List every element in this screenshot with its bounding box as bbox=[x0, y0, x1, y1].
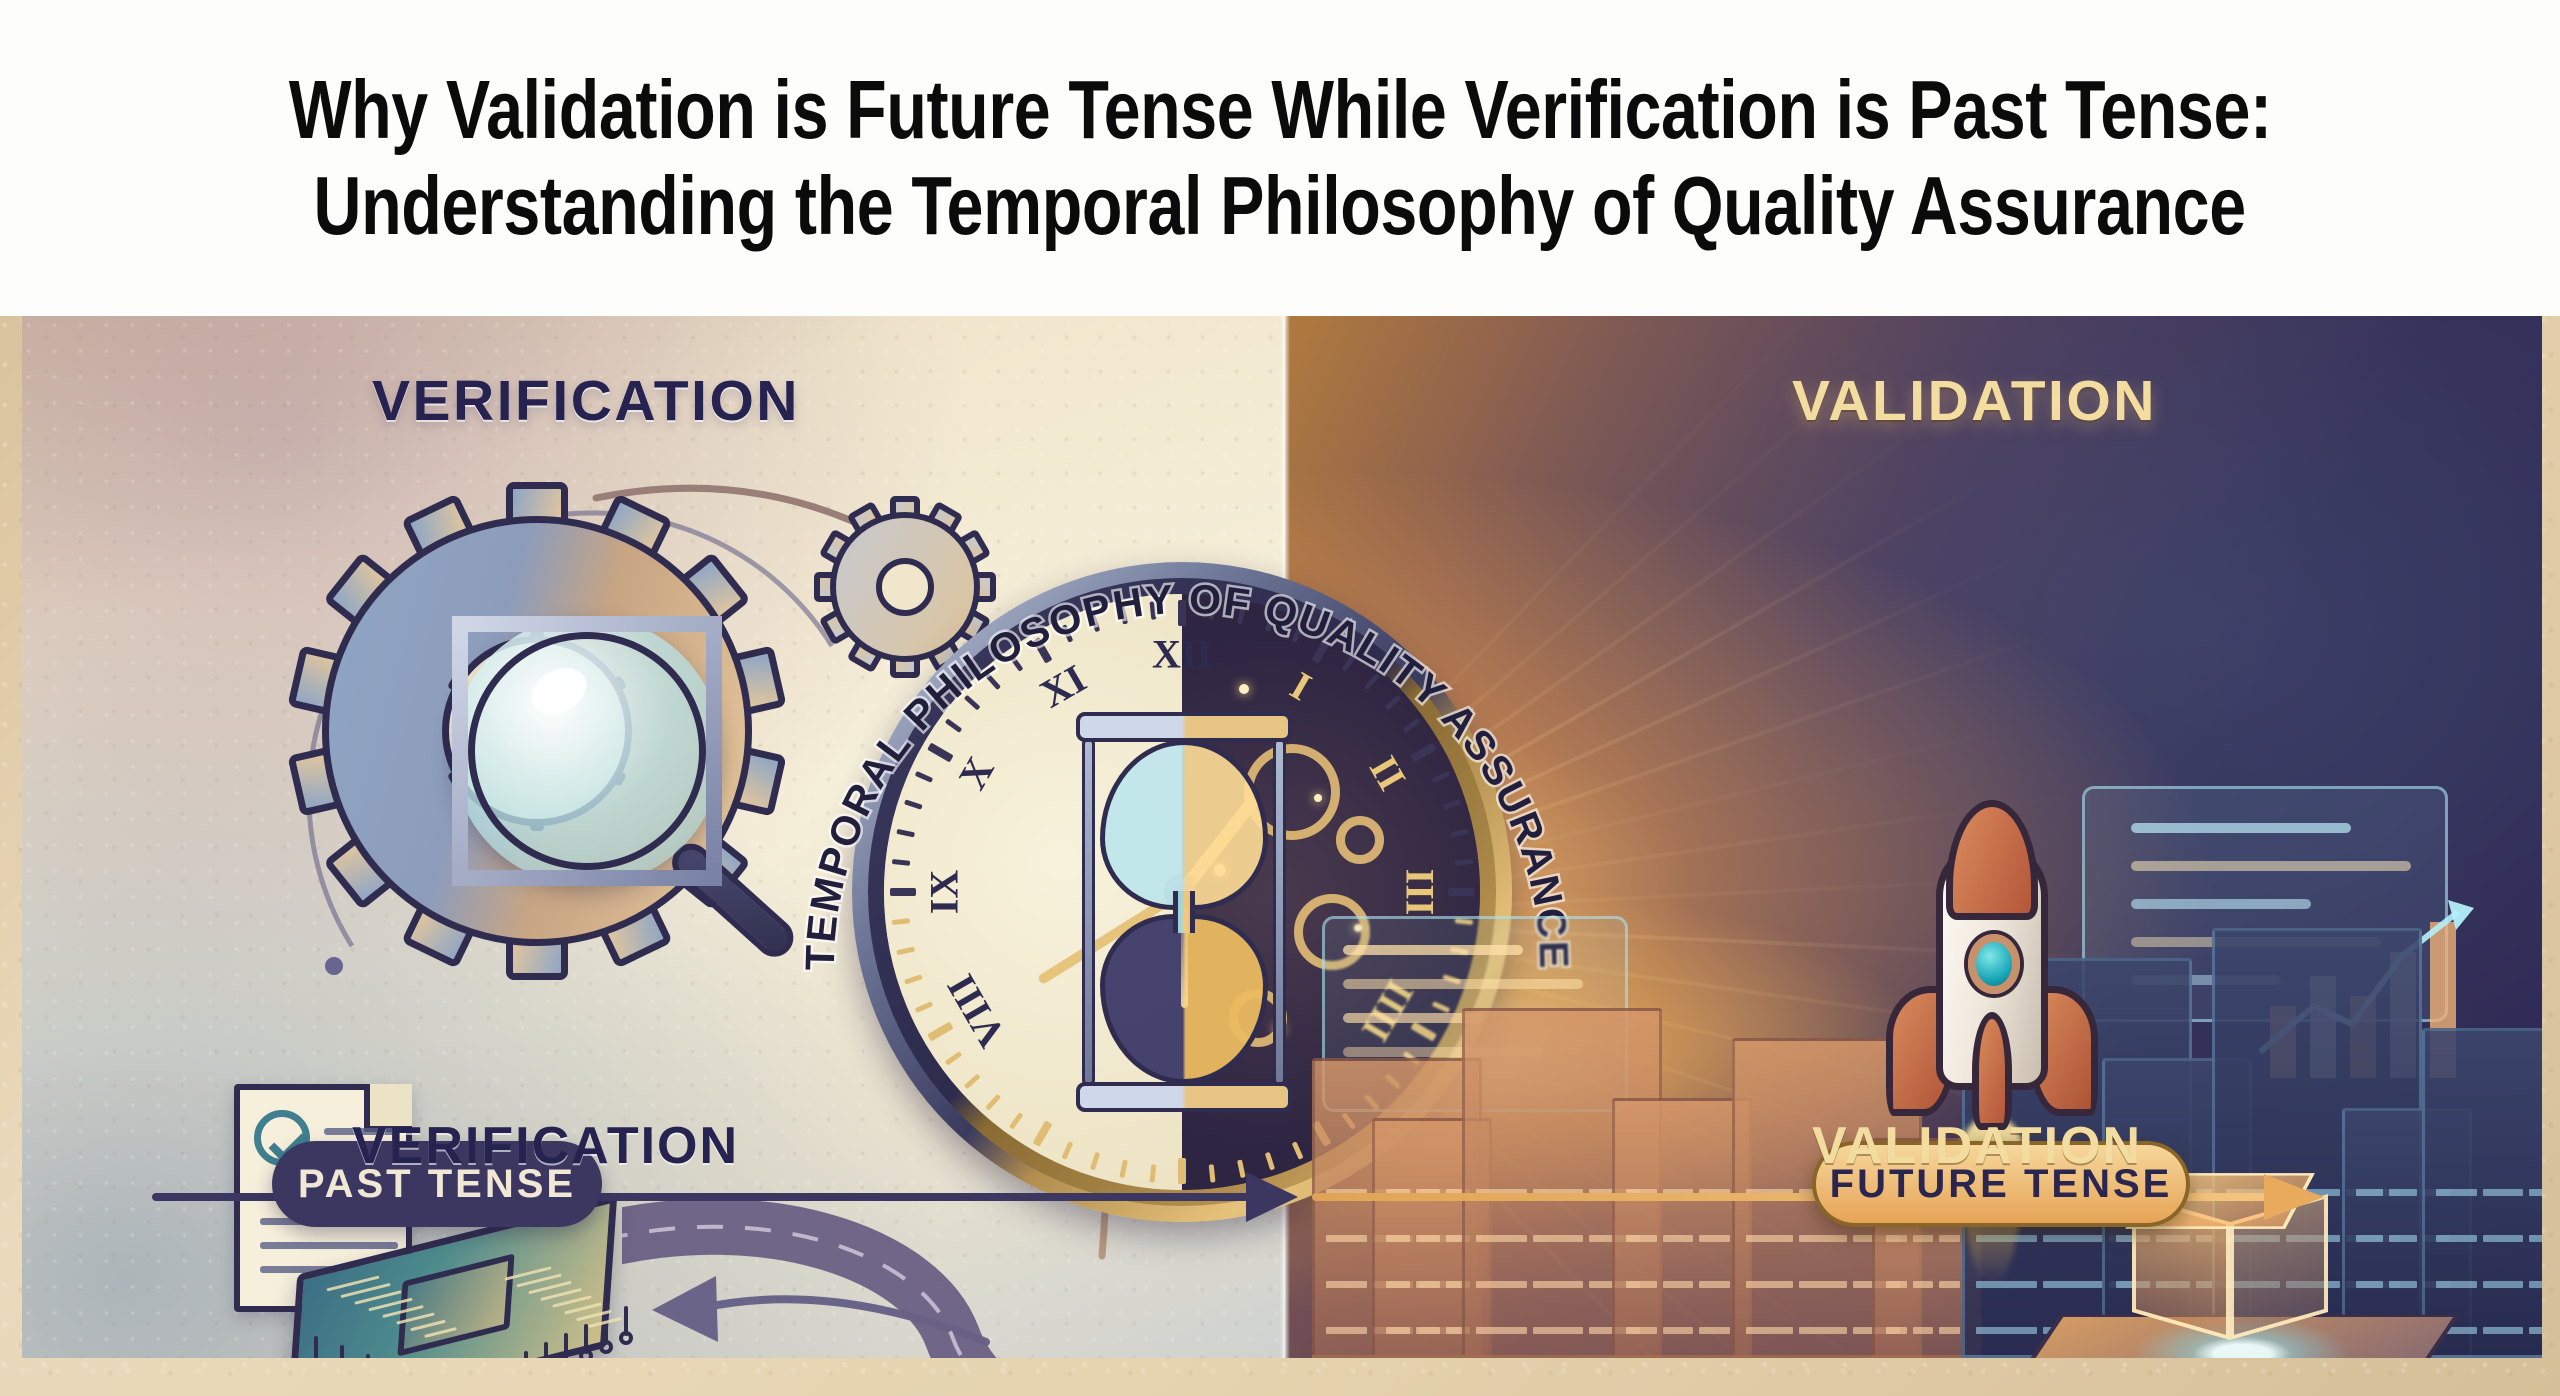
building-window bbox=[1326, 1235, 1367, 1242]
hourglass-icon bbox=[1100, 712, 1268, 1112]
clock-numeral: IX bbox=[921, 870, 968, 914]
magnifier-lens bbox=[452, 616, 722, 886]
hourglass-cap-top bbox=[1076, 712, 1292, 742]
building-window bbox=[1699, 1281, 1730, 1288]
building-window bbox=[2529, 1189, 2542, 1196]
rocket-fin-center bbox=[1972, 1012, 2012, 1130]
hourglass-column-right bbox=[1273, 738, 1286, 1086]
building-window bbox=[2483, 1281, 2524, 1288]
building-window bbox=[1976, 1327, 2037, 1334]
building-window bbox=[1799, 1281, 1846, 1288]
building-window bbox=[2529, 1281, 2542, 1288]
building-window bbox=[1699, 1235, 1730, 1242]
building-window bbox=[1326, 1281, 1367, 1288]
hourglass-cap-bottom bbox=[1076, 1082, 1292, 1112]
clock-tick bbox=[890, 888, 916, 896]
illustration-frame: XIIXIXIXVIIIIIIIIIIIII TEMPORAL PHILOSOP… bbox=[0, 316, 2560, 1396]
hourglass-column-left bbox=[1082, 738, 1095, 1086]
building-window bbox=[1699, 1327, 1730, 1334]
sand-stream bbox=[1181, 878, 1188, 1008]
future-timeline-arrowhead-icon bbox=[2262, 1162, 2342, 1232]
building-window bbox=[2356, 1235, 2383, 1242]
chip-pin bbox=[584, 1324, 588, 1354]
title-line-2: Understanding the Temporal Philosophy of… bbox=[314, 158, 2246, 254]
chip-pin bbox=[366, 1354, 370, 1358]
building-window bbox=[2389, 1235, 2416, 1242]
building-window bbox=[1799, 1235, 1846, 1242]
building-window bbox=[1799, 1327, 1846, 1334]
building-window bbox=[1939, 1235, 1960, 1242]
clock-tick bbox=[1178, 1158, 1186, 1184]
building-window bbox=[1746, 1235, 1793, 1242]
building-window bbox=[2483, 1189, 2524, 1196]
building-window bbox=[1939, 1327, 1960, 1334]
verification-heading-bottom: VERIFICATION bbox=[352, 1116, 739, 1176]
building-window bbox=[2436, 1281, 2477, 1288]
chip-pin bbox=[340, 1345, 344, 1358]
building-window bbox=[1913, 1281, 1934, 1288]
validation-heading-bottom: VALIDATION bbox=[1812, 1116, 2142, 1176]
chip-pin bbox=[314, 1336, 318, 1358]
building-window bbox=[1746, 1281, 1793, 1288]
building-window bbox=[1386, 1281, 1410, 1288]
building-window bbox=[1663, 1281, 1694, 1288]
building-window bbox=[2043, 1235, 2104, 1242]
building-window bbox=[1626, 1327, 1657, 1334]
building-window bbox=[1416, 1235, 1440, 1242]
building-window bbox=[1326, 1327, 1367, 1334]
building-window bbox=[2436, 1189, 2477, 1196]
building-window bbox=[1626, 1235, 1657, 1242]
hourglass-glass bbox=[1100, 740, 1268, 1084]
rocket-window bbox=[1968, 934, 2020, 994]
past-timeline-arrowhead-icon bbox=[1244, 1162, 1314, 1232]
magnifying-glass-icon bbox=[452, 616, 722, 886]
building-window bbox=[1476, 1327, 1527, 1334]
rocket-icon bbox=[1902, 816, 2082, 1146]
building-window bbox=[2043, 1281, 2104, 1288]
building bbox=[1612, 1098, 1752, 1358]
building-window bbox=[1533, 1327, 1584, 1334]
building-window bbox=[1886, 1327, 1907, 1334]
building-window bbox=[1746, 1327, 1793, 1334]
building-window bbox=[1913, 1327, 1934, 1334]
building-window bbox=[2483, 1235, 2524, 1242]
artwork-panel: XIIXIXIXVIIIIIIIIIIIII TEMPORAL PHILOSOP… bbox=[22, 316, 2542, 1358]
building-window bbox=[1886, 1235, 1907, 1242]
building-window bbox=[1663, 1235, 1694, 1242]
validation-heading-top: VALIDATION bbox=[1792, 368, 2157, 434]
building-window bbox=[2356, 1189, 2383, 1196]
building-window bbox=[1476, 1281, 1527, 1288]
building-window bbox=[2529, 1235, 2542, 1242]
chip-pin bbox=[544, 1342, 548, 1358]
building-window bbox=[2529, 1327, 2542, 1334]
clock-tick bbox=[1178, 600, 1186, 626]
building-window bbox=[1416, 1327, 1440, 1334]
title-line-1: Why Validation is Future Tense While Ver… bbox=[289, 62, 2272, 158]
rocket-nose bbox=[1946, 800, 2038, 920]
building-window bbox=[1913, 1235, 1934, 1242]
poster-page: Why Validation is Future Tense While Ver… bbox=[0, 0, 2560, 1396]
building-window bbox=[1886, 1281, 1907, 1288]
building-window bbox=[1533, 1235, 1584, 1242]
building-window bbox=[1386, 1327, 1410, 1334]
verification-heading-top: VERIFICATION bbox=[372, 368, 800, 434]
building-window bbox=[1476, 1235, 1527, 1242]
building-window bbox=[1939, 1281, 1960, 1288]
building-window bbox=[1386, 1235, 1410, 1242]
building-window bbox=[1626, 1281, 1657, 1288]
building-window bbox=[2356, 1281, 2383, 1288]
clock-face-star bbox=[1239, 684, 1249, 694]
building-window bbox=[2483, 1327, 2524, 1334]
building-window bbox=[2389, 1189, 2416, 1196]
chip-pin bbox=[524, 1351, 528, 1358]
microchip-icon bbox=[292, 1216, 622, 1358]
clock-numeral: XII bbox=[1152, 631, 1212, 678]
chip-pin bbox=[624, 1306, 628, 1336]
building-window bbox=[2389, 1281, 2416, 1288]
clock-face-star bbox=[1314, 794, 1322, 802]
building-window bbox=[1416, 1281, 1440, 1288]
building-window bbox=[2436, 1235, 2477, 1242]
page-title: Why Validation is Future Tense While Ver… bbox=[0, 0, 2560, 316]
lens-glint bbox=[523, 659, 594, 723]
building-window bbox=[1663, 1327, 1694, 1334]
building-window bbox=[1533, 1281, 1584, 1288]
chip-pin bbox=[564, 1333, 568, 1358]
